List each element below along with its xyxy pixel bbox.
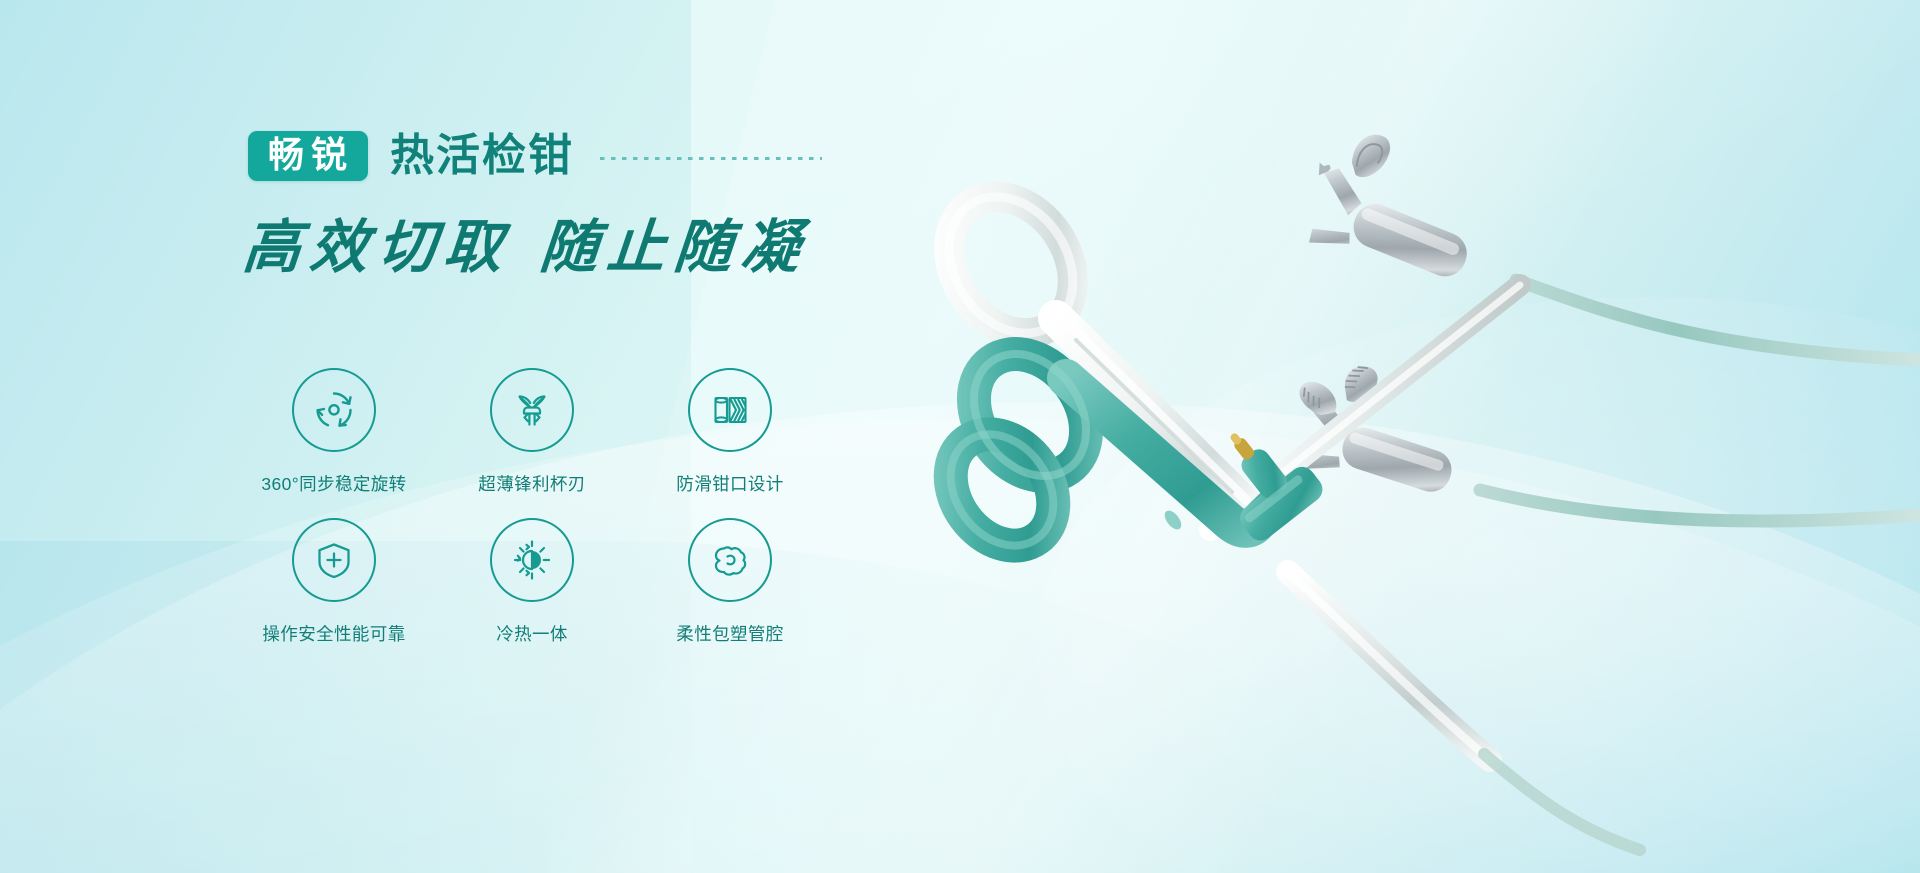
feature-item-flexible-lumen: 柔性包塑管腔 [631,518,829,668]
title-row: 畅锐 热活检钳 [248,131,822,181]
product-image [880,60,1920,873]
feature-label: 防滑钳口设计 [676,471,783,496]
feature-item-cup-jaw: 超薄锋利杯刃 [433,368,631,518]
feature-label: 360°同步稳定旋转 [261,471,406,496]
feature-grid: 360°同步稳定旋转 超薄锋利杯刃 [235,368,829,668]
page-title: 热活检钳 [390,134,574,178]
feature-label: 冷热一体 [496,621,568,646]
feature-label: 柔性包塑管腔 [676,621,783,646]
dotted-divider [600,157,822,160]
shield-plus-icon [292,518,376,602]
brand-badge: 畅锐 [248,131,368,181]
feature-item-rotation: 360°同步稳定旋转 [235,368,433,518]
background-wave-right-blob [1037,297,1920,873]
feature-item-safety: 操作安全性能可靠 [235,518,433,668]
flexible-coated-lumen-icon [688,518,772,602]
anti-slip-jaw-icon [688,368,772,452]
rotation-360-icon [292,368,376,452]
feature-item-hot-cold: 冷热一体 [433,518,631,668]
feature-label: 超薄锋利杯刃 [478,471,585,496]
feature-label: 操作安全性能可靠 [262,621,405,646]
thin-sharp-cup-jaw-icon [490,368,574,452]
headline-slogan: 高效切取 随止随凝 [240,216,811,280]
feature-item-anti-slip: 防滑钳口设计 [631,368,829,518]
product-banner: 畅锐 热活检钳 高效切取 随止随凝 360°同步稳定旋转 [0,0,1920,873]
hot-cold-integrated-icon [490,518,574,602]
